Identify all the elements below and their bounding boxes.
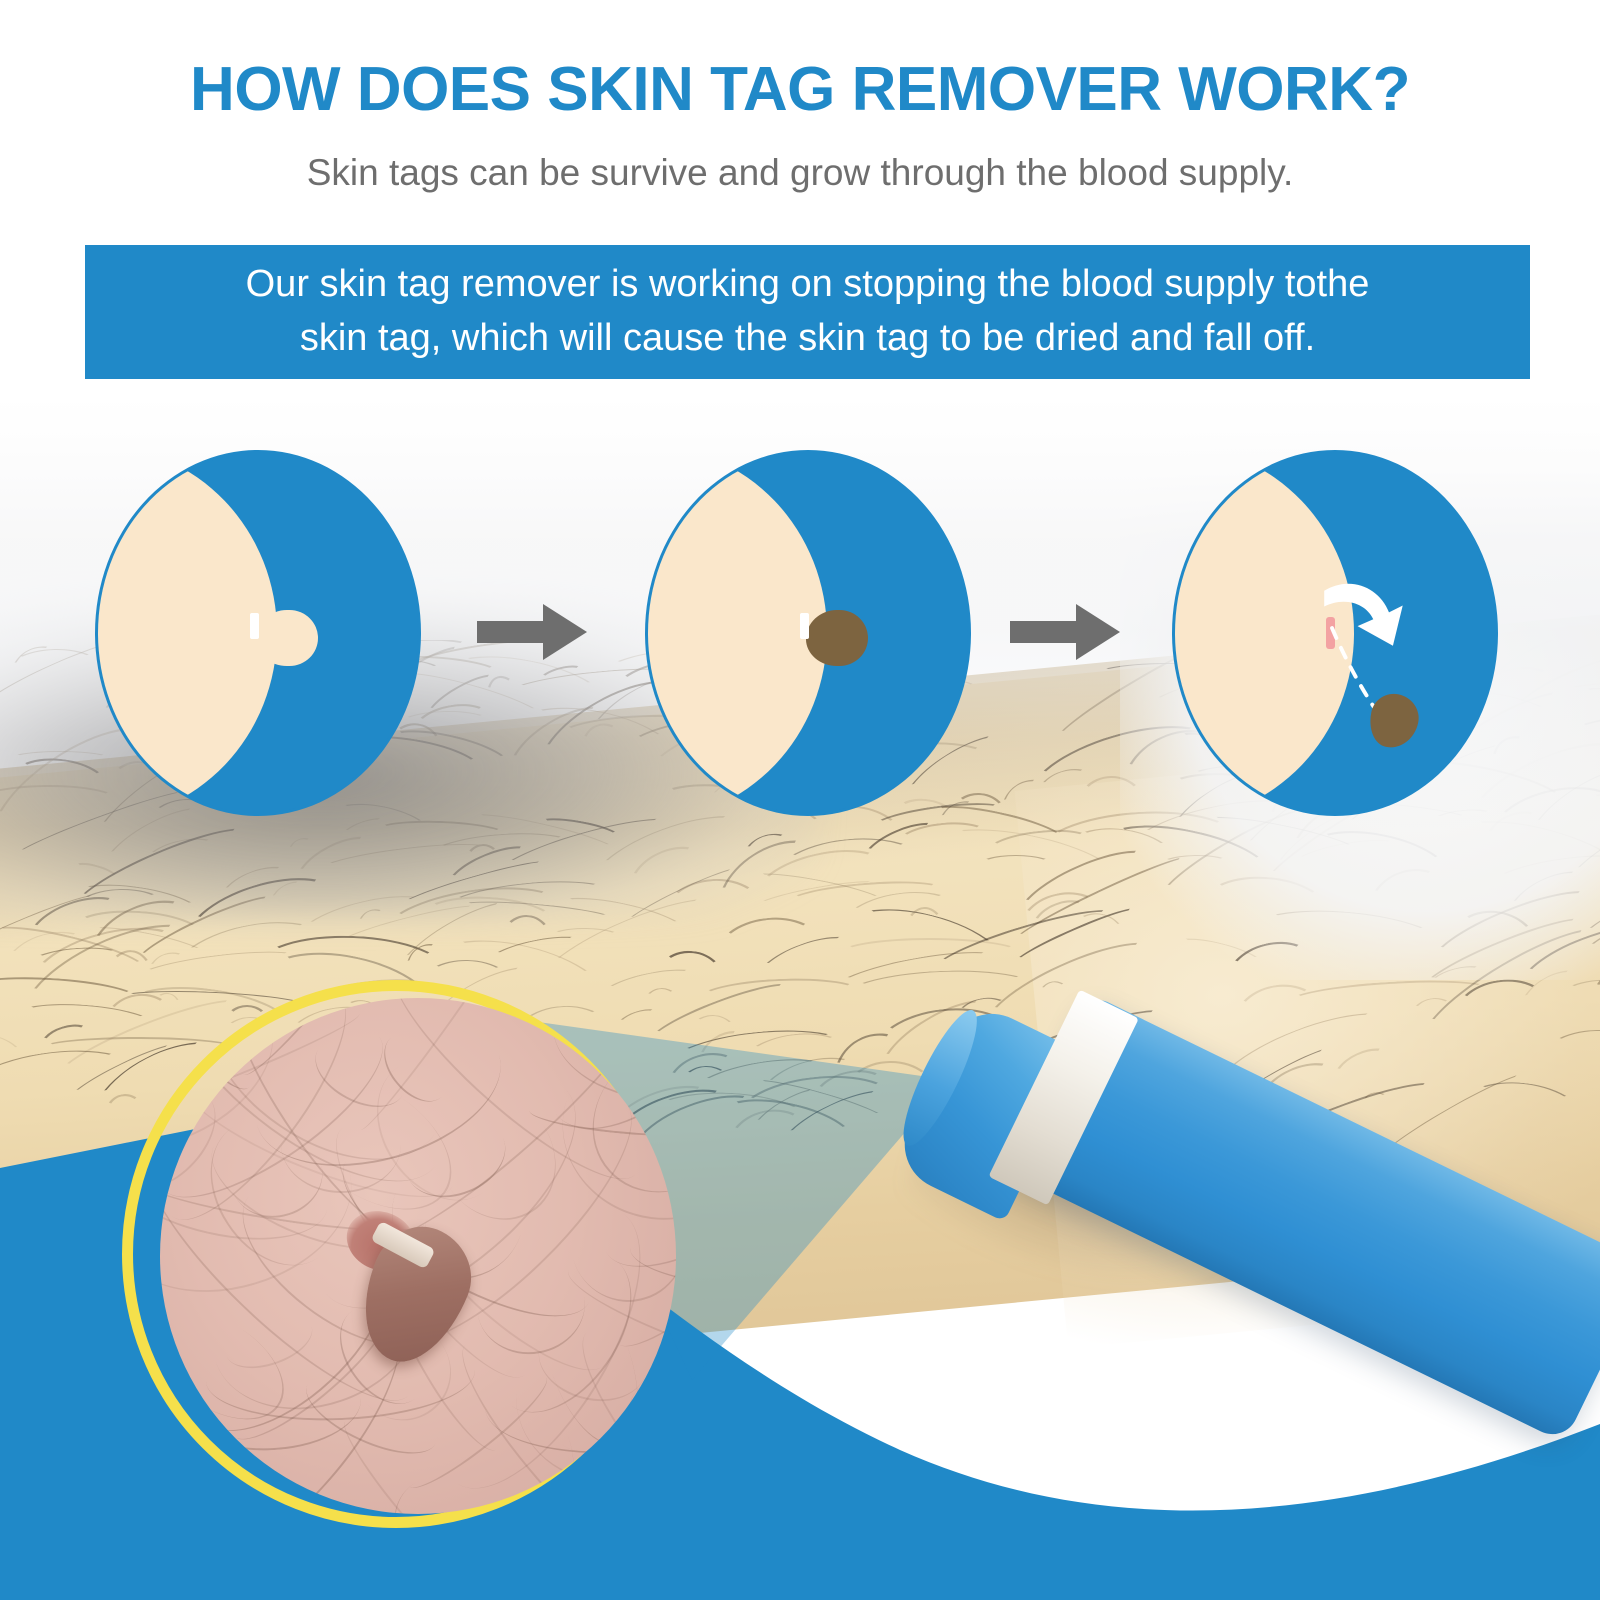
banner-line-2: skin tag, which will cause the skin tag … <box>300 312 1315 366</box>
process-step-1 <box>95 450 421 816</box>
step-3-disc <box>1172 450 1498 816</box>
skin-tag-dried-icon <box>806 610 868 666</box>
process-step-2 <box>645 450 971 816</box>
falling-arrow-icon <box>1175 453 1495 813</box>
zoom-inset-photo <box>160 998 676 1514</box>
infographic-canvas: HOW DOES SKIN TAG REMOVER WORK? Skin tag… <box>0 0 1600 1600</box>
step-1-disc <box>95 450 421 816</box>
banner-line-1: Our skin tag remover is working on stopp… <box>246 258 1370 312</box>
arrow-head <box>543 604 587 660</box>
page-subtitle: Skin tags can be survive and grow throug… <box>0 152 1600 194</box>
arrow-head <box>1076 604 1120 660</box>
step-2-disc <box>645 450 971 816</box>
arrow-shaft <box>1010 621 1082 643</box>
skin-surface-gap <box>250 613 259 639</box>
skin-tag-fresh-icon <box>256 610 318 666</box>
skin-surface-gap <box>800 613 809 639</box>
flow-arrow-2-icon <box>1010 604 1120 660</box>
info-banner: Our skin tag remover is working on stopp… <box>85 245 1530 379</box>
zoom-inset-circle <box>122 980 670 1528</box>
arrow-shaft <box>477 621 549 643</box>
page-title: HOW DOES SKIN TAG REMOVER WORK? <box>0 54 1600 125</box>
flow-arrow-1-icon <box>477 604 587 660</box>
skin-tag-remover-device[interactable] <box>930 975 1600 1455</box>
process-step-3 <box>1172 450 1498 816</box>
